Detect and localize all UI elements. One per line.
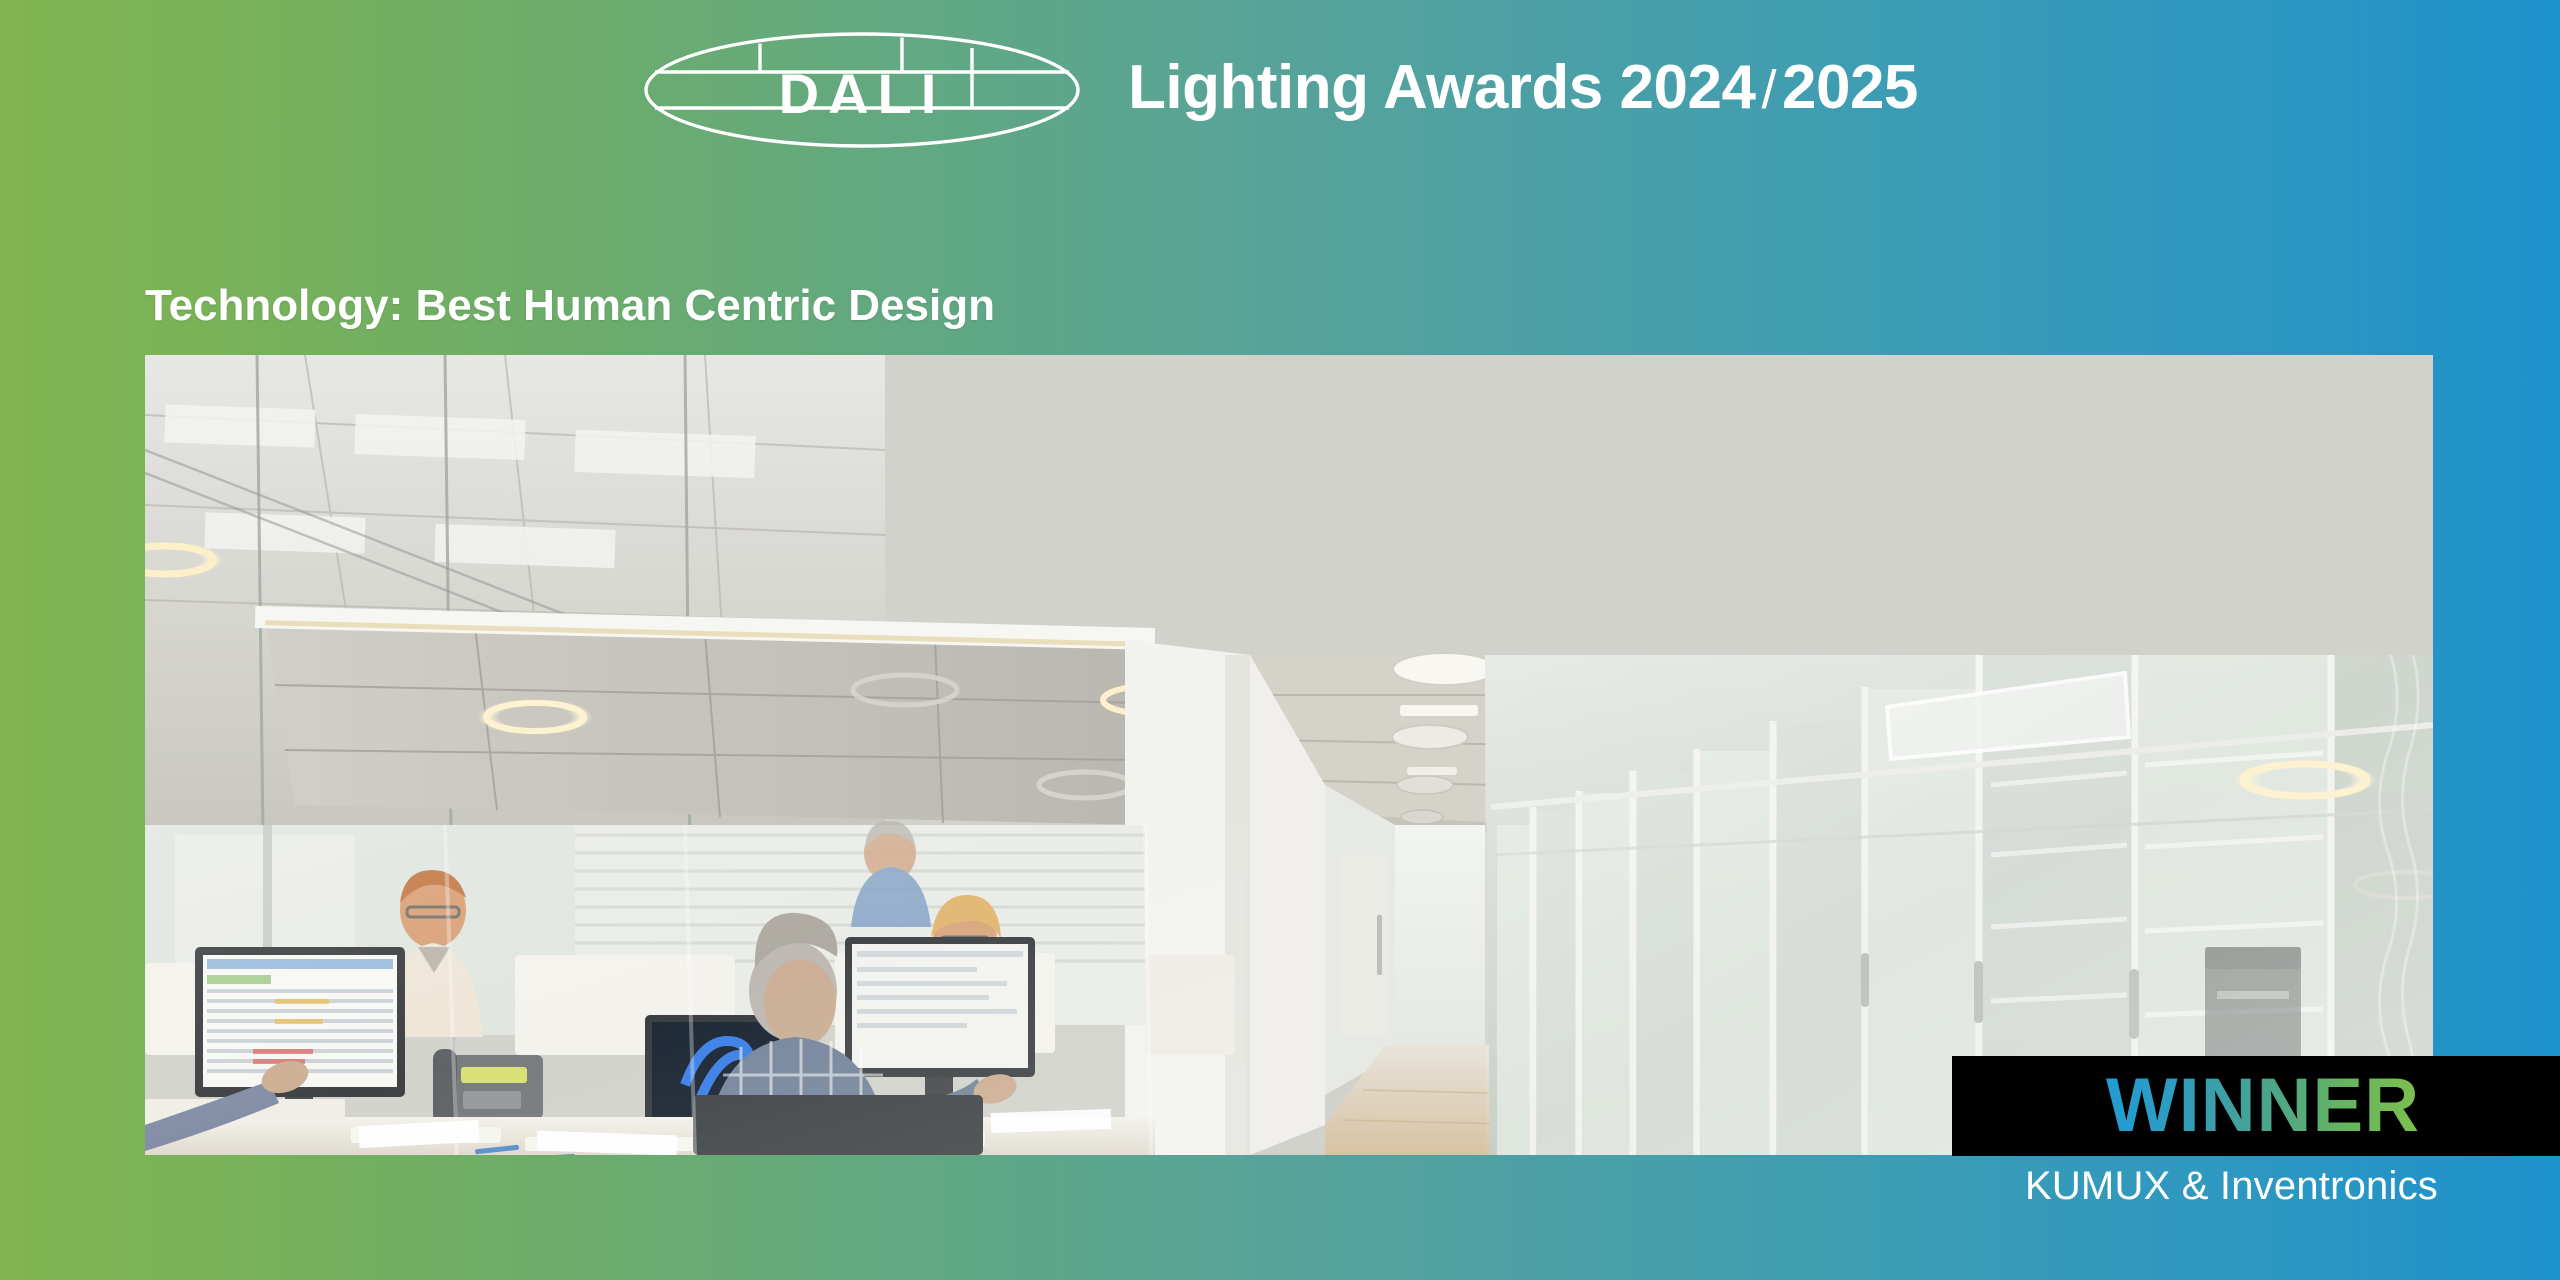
winner-recipients: KUMUX & Inventronics	[1952, 1160, 2438, 1212]
awards-title-main: Lighting Awards	[1128, 53, 1603, 122]
dali-logo: DALI	[642, 30, 1082, 150]
dali-logo-wordmark: DALI	[779, 62, 946, 125]
page-header: DALI Lighting Awards 2024/2025	[0, 0, 2560, 180]
awards-title: Lighting Awards 2024/2025	[1128, 57, 1918, 119]
category-title: Technology: Best Human Centric Design	[145, 281, 995, 331]
winner-label: WINNER	[2092, 1068, 2420, 1144]
awards-title-year-first: 2024	[1620, 53, 1756, 122]
award-photo	[145, 355, 2433, 1155]
awards-title-year-second: 2025	[1782, 53, 1918, 122]
winner-badge: WINNER	[1952, 1056, 2560, 1156]
awards-title-separator: /	[1755, 60, 1782, 120]
